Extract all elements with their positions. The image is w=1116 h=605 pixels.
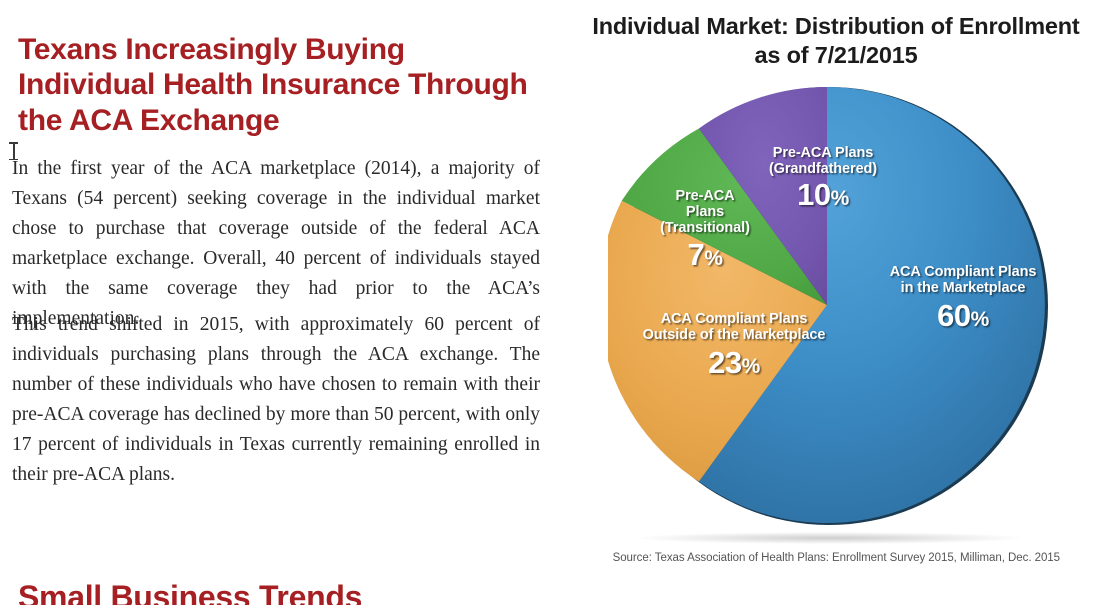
- pie-ground-shadow: [638, 532, 1023, 544]
- next-section-heading: Small Business Trends: [18, 579, 538, 605]
- chart-source-note: Source: Texas Association of Health Plan…: [556, 552, 1116, 564]
- pie-chart: ACA Compliant Plans in the Marketplace 6…: [608, 86, 1046, 524]
- article-column: Texans Increasingly Buying Individual He…: [0, 0, 560, 578]
- chart-title-line-1: Individual Market: Distribution of Enrol…: [556, 12, 1116, 41]
- chart-title-line-2: as of 7/21/2015: [556, 41, 1116, 70]
- pie-chart-panel: Individual Market: Distribution of Enrol…: [556, 0, 1116, 578]
- article-paragraph-2: This trend shifted in 2015, with approxi…: [12, 310, 540, 490]
- chart-title: Individual Market: Distribution of Enrol…: [556, 12, 1116, 70]
- pie-slices: [608, 86, 1046, 524]
- article-headline: Texans Increasingly Buying Individual He…: [18, 32, 538, 138]
- article-paragraph-1: In the first year of the ACA marketplace…: [12, 154, 540, 334]
